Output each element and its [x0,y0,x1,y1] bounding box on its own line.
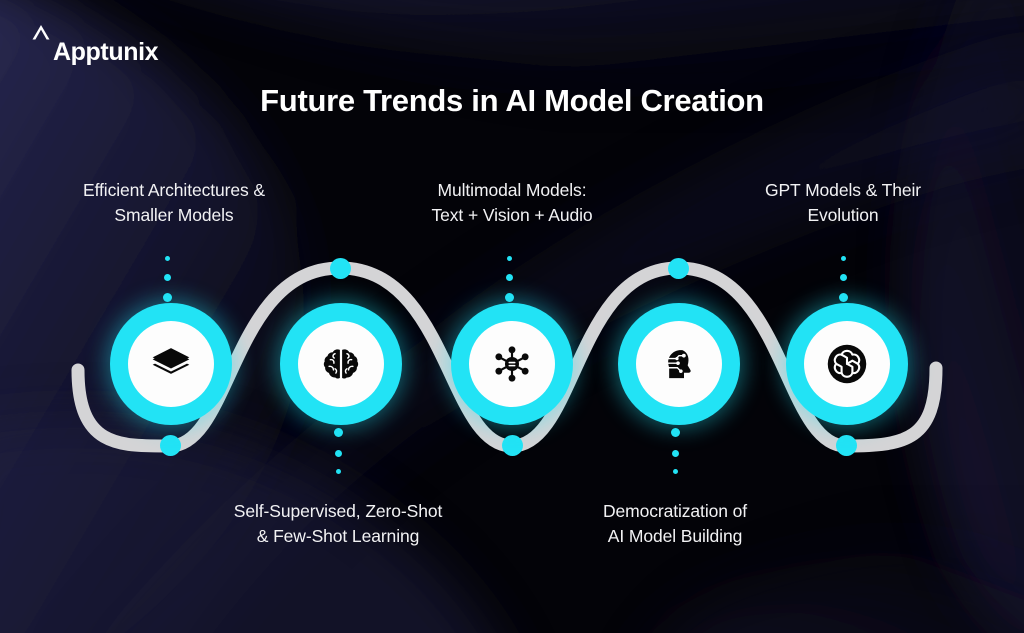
node-label-2-line-1: Self-Supervised, Zero-Shot [188,499,488,524]
timeline-node-4[interactable] [618,303,740,425]
dot [163,293,172,302]
dot [507,256,512,261]
dot [671,428,680,437]
dot [330,258,351,279]
dot [502,435,523,456]
node-inner-circle [128,321,214,407]
page-title: Future Trends in AI Model Creation [0,83,1024,119]
ai-head-circuit-icon [659,344,699,384]
dot [165,256,170,261]
dot [840,274,847,281]
node-label-1-line-2: Smaller Models [24,203,324,228]
node-label-5-line-1: GPT Models & Their [693,178,993,203]
node-inner-circle [636,321,722,407]
wave-junction-node-2 [330,258,351,279]
dot [673,469,678,474]
dot [334,428,343,437]
network-hub-icon [492,344,532,384]
dot [160,435,181,456]
node-label-3-line-2: Text + Vision + Audio [362,203,662,228]
brand-logo[interactable]: Apptunix [30,24,158,65]
wave-junction-node-1 [160,435,181,456]
node-label-3: Multimodal Models: Text + Vision + Audio [362,178,662,228]
dot [836,435,857,456]
dot [839,293,848,302]
dot [335,450,342,457]
dot [672,450,679,457]
node-inner-circle [804,321,890,407]
dot [841,256,846,261]
node-label-2: Self-Supervised, Zero-Shot & Few-Shot Le… [188,499,488,549]
wave-junction-node-4 [668,258,689,279]
node-label-4-line-1: Democratization of [525,499,825,524]
connector-dots-node-3 [505,256,514,302]
wave-junction-node-5 [836,435,857,456]
timeline-node-1[interactable] [110,303,232,425]
brand-name: Apptunix [53,40,158,65]
node-label-4-line-2: AI Model Building [525,524,825,549]
connector-dots-node-2 [334,428,343,474]
timeline-node-5[interactable] [786,303,908,425]
brain-icon [322,345,360,383]
node-label-4: Democratization of AI Model Building [525,499,825,549]
connector-dots-node-1 [163,256,172,302]
dot [164,274,171,281]
timeline-node-2[interactable] [280,303,402,425]
infographic-canvas: Apptunix Future Trends in AI Model Creat… [0,0,1024,633]
node-label-2-line-2: & Few-Shot Learning [188,524,488,549]
dot [505,293,514,302]
node-label-1: Efficient Architectures & Smaller Models [24,178,324,228]
node-label-5: GPT Models & Their Evolution [693,178,993,228]
node-label-5-line-2: Evolution [693,203,993,228]
openai-logo-icon [825,342,869,386]
node-inner-circle [298,321,384,407]
layers-stack-icon [151,344,191,384]
dot [336,469,341,474]
apptunix-rocket-caret-icon [30,24,52,63]
connector-dots-node-4 [671,428,680,474]
connector-dots-node-5 [839,256,848,302]
wave-junction-node-3 [502,435,523,456]
timeline-node-3[interactable] [451,303,573,425]
node-label-1-line-1: Efficient Architectures & [24,178,324,203]
node-inner-circle [469,321,555,407]
dot [506,274,513,281]
dot [668,258,689,279]
node-label-3-line-1: Multimodal Models: [362,178,662,203]
